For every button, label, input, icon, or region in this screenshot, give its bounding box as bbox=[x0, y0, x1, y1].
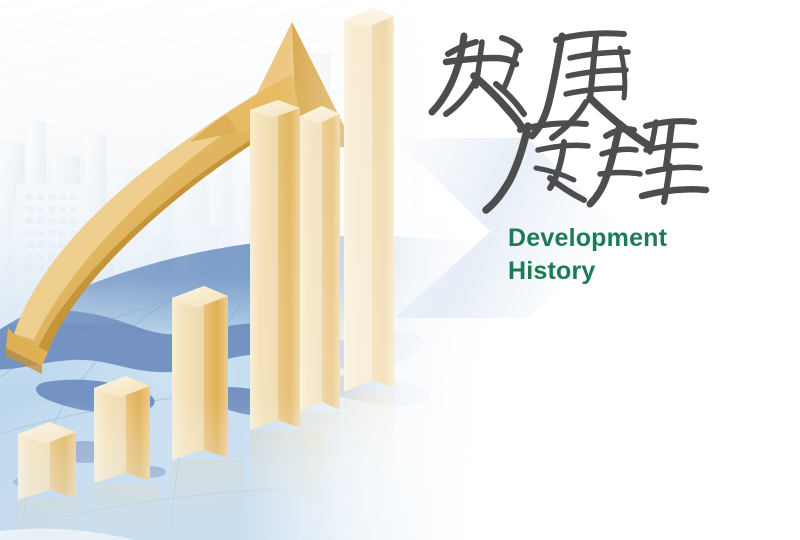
vignette-overlay bbox=[0, 0, 800, 540]
poster-canvas: 发展历程 bbox=[0, 0, 800, 540]
